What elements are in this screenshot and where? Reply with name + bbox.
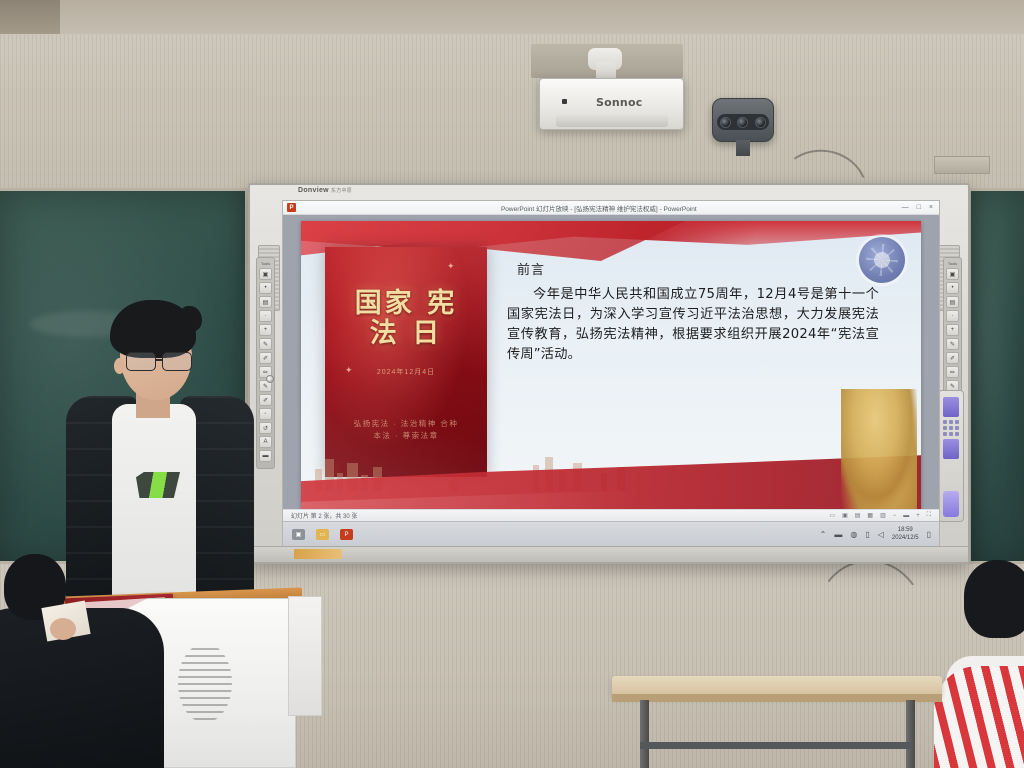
- powerpoint-icon: P: [287, 203, 296, 212]
- dot-tool[interactable]: ·: [946, 310, 959, 322]
- glasses-lens-right: [162, 352, 192, 371]
- explorer-icon[interactable]: ▭: [316, 529, 329, 540]
- remote-badge: [943, 491, 959, 517]
- remote-key[interactable]: [955, 426, 959, 430]
- shirt-logo: [136, 472, 180, 498]
- ceiling-trim: [0, 0, 1024, 34]
- fit-icon[interactable]: ⛶: [927, 512, 931, 519]
- taskbar-apps[interactable]: ▣ ▭ P: [292, 529, 353, 540]
- taskbar-clock[interactable]: 18:59 2024/12/5: [892, 527, 919, 542]
- cloud-icon[interactable]: ◍: [850, 530, 857, 539]
- student-right-jacket: [934, 666, 1024, 768]
- show-desktop-button[interactable]: ▯: [927, 530, 931, 539]
- poster-date: 2024年12月4日: [325, 367, 487, 377]
- powerpoint-taskbar-icon[interactable]: P: [340, 529, 353, 540]
- poster-title: 国家 宪 法 日: [325, 289, 487, 349]
- camera-lens-icon: [755, 117, 766, 128]
- poster-title-line2: 法 日: [325, 319, 487, 349]
- view-normal-icon[interactable]: ▤: [855, 512, 861, 519]
- glasses-lens-left: [126, 352, 156, 371]
- status-bar-icons[interactable]: ▭ ▣ ▤ ▦ ▥ − ▬ + ⛶: [829, 512, 931, 519]
- remote-key[interactable]: [943, 426, 947, 430]
- page-tool[interactable]: ▤: [946, 296, 959, 308]
- view-reading-icon[interactable]: ▥: [880, 512, 886, 519]
- lectern-speaker-grille: [167, 627, 243, 739]
- zoom-out-icon[interactable]: −: [893, 513, 897, 519]
- remote-key[interactable]: [943, 432, 947, 436]
- remote-key[interactable]: [943, 420, 947, 424]
- marker-tool[interactable]: ✏: [946, 366, 959, 378]
- clock-date: 2024/12/5: [892, 535, 919, 543]
- poster-title-line1: 国家 宪: [325, 289, 487, 319]
- brand-text: Donview: [298, 187, 329, 194]
- slide-body-text: 今年是中华人民共和国成立75周年，12月4号是第十一个国家宪法日，为深入学习宣传…: [507, 285, 879, 365]
- projector-lens: [556, 115, 668, 127]
- taskbar-tray[interactable]: ⌃ ▬ ◍ ▯ ◁ 18:59 2024/12/5 ▯: [820, 527, 931, 542]
- toolbar-label: Tools: [261, 261, 270, 266]
- remote-screen: [943, 397, 959, 417]
- ppt-window-title: PowerPoint 幻灯片放映 - [弘扬宪法精神 维护宪法权威] - Pow…: [296, 203, 902, 213]
- bezel-knob[interactable]: [266, 375, 274, 383]
- smartboard-screen[interactable]: P PowerPoint 幻灯片放映 - [弘扬宪法精神 维护宪法权威] - P…: [282, 200, 940, 548]
- pencil-tool[interactable]: ✐: [946, 352, 959, 364]
- interactive-smartboard[interactable]: Donview东方中原 Tools ▣ • ▤ · + ✎ ✐ ✏ ✎ ✐ ◦ …: [248, 183, 970, 564]
- smartboard-brand-label: Donview东方中原: [298, 187, 352, 194]
- projector: Sonnoc: [539, 78, 684, 130]
- smartboard-bottom-strip: [250, 546, 968, 562]
- windows-taskbar[interactable]: ▣ ▭ P ⌃ ▬ ◍ ▯ ◁ 18:59 2024/12/5 ▯: [283, 521, 939, 547]
- student-left-hand: [50, 618, 76, 640]
- constitution-day-poster: ✦ ✦ 国家 宪 法 日 2024年12月4日 弘扬宪法 · 法治精神 合种 本…: [325, 247, 487, 477]
- slide-heading: 前言: [517, 259, 545, 278]
- camera-mount: [736, 140, 750, 156]
- desk-leg: [906, 700, 915, 768]
- poster-subtitle-line2: 本法 · 尊崇法章: [325, 430, 487, 443]
- student-right-head: [964, 560, 1024, 638]
- presenter-hair: [110, 300, 196, 358]
- remote-key[interactable]: [949, 432, 953, 436]
- brand-subtext: 东方中原: [331, 188, 352, 194]
- pen-tool[interactable]: ✎: [946, 338, 959, 350]
- student-left: [0, 540, 170, 768]
- taskview-icon[interactable]: ▣: [292, 529, 305, 540]
- slide-area[interactable]: ✦ ✦ 国家 宪 法 日 2024年12月4日 弘扬宪法 · 法治精神 合种 本…: [283, 215, 939, 523]
- remote-lower-screen: [943, 439, 959, 459]
- classroom-scene: Sonnoc Donview东方中原 Tools ▣ • ▤ · + ✎ ✐ ✏: [0, 0, 1024, 768]
- national-emblem-watermark: [859, 237, 905, 283]
- camera-lens-bar: [717, 114, 769, 130]
- student-desk: [612, 676, 942, 696]
- battery-icon[interactable]: ▯: [865, 530, 869, 539]
- bird-icon: ✦: [447, 261, 455, 272]
- toolbar-label: Tools: [948, 261, 957, 266]
- presenter-glasses: [124, 352, 196, 371]
- comment-icon[interactable]: ▣: [842, 512, 848, 519]
- remote-key[interactable]: [949, 426, 953, 430]
- desk-edge: [612, 694, 942, 702]
- poster-subtitle: 弘扬宪法 · 法治精神 合种 本法 · 尊崇法章: [325, 418, 487, 444]
- camera-lens-icon: [737, 117, 748, 128]
- lectern-side-panel: [288, 596, 322, 716]
- note-icon[interactable]: ▭: [829, 512, 835, 519]
- ppt-titlebar: P PowerPoint 幻灯片放映 - [弘扬宪法精神 维护宪法权威] - P…: [283, 201, 939, 215]
- zoom-slider[interactable]: ▬: [903, 513, 909, 519]
- slide-canvas[interactable]: ✦ ✦ 国家 宪 法 日 2024年12月4日 弘扬宪法 · 法治精神 合种 本…: [301, 221, 921, 517]
- cursor-tool[interactable]: •: [259, 282, 272, 294]
- select-tool[interactable]: ▣: [259, 268, 272, 280]
- ceiling-panel: [0, 0, 60, 34]
- poster-subtitle-line1: 弘扬宪法 · 法治精神 合种: [325, 418, 487, 431]
- desk-rail: [640, 742, 912, 749]
- stone-lion-decoration: [841, 389, 917, 509]
- network-icon[interactable]: ▬: [834, 530, 842, 539]
- wall-mounted-box: [934, 156, 990, 174]
- remote-key[interactable]: [949, 420, 953, 424]
- remote-key[interactable]: [955, 420, 959, 424]
- projector-led-icon: [562, 99, 567, 104]
- zoom-in-icon[interactable]: +: [916, 513, 920, 519]
- maximize-button[interactable]: □: [917, 204, 921, 211]
- chalkboard-right: [968, 188, 1024, 564]
- select-tool[interactable]: ▣: [946, 268, 959, 280]
- wall-mounted-remote[interactable]: [938, 390, 964, 522]
- ceiling-camera: [712, 98, 774, 142]
- view-sorter-icon[interactable]: ▦: [867, 512, 873, 519]
- projector-brand-label: Sonnoc: [596, 96, 642, 109]
- remote-key[interactable]: [955, 432, 959, 436]
- camera-lens-icon: [720, 117, 731, 128]
- window-controls[interactable]: — □ ×: [902, 204, 933, 211]
- desk-leg: [640, 700, 649, 768]
- volume-icon[interactable]: ◁: [878, 530, 884, 539]
- cursor-tool[interactable]: •: [946, 282, 959, 294]
- smartboard-label-tag: [294, 549, 342, 559]
- minimize-button[interactable]: —: [902, 204, 909, 211]
- remote-keypad[interactable]: [943, 420, 959, 436]
- student-right: [952, 560, 1024, 768]
- ppt-status-bar[interactable]: 幻灯片 第 2 张，共 30 张 ▭ ▣ ▤ ▦ ▥ − ▬ + ⛶: [283, 509, 939, 521]
- clock-time: 18:59: [892, 527, 919, 535]
- glasses-bridge: [156, 359, 162, 361]
- plus-tool[interactable]: +: [946, 324, 959, 336]
- slide-position-label: 幻灯片 第 2 张，共 30 张: [291, 511, 357, 520]
- close-button[interactable]: ×: [929, 204, 933, 211]
- chevron-up-icon[interactable]: ⌃: [820, 530, 827, 539]
